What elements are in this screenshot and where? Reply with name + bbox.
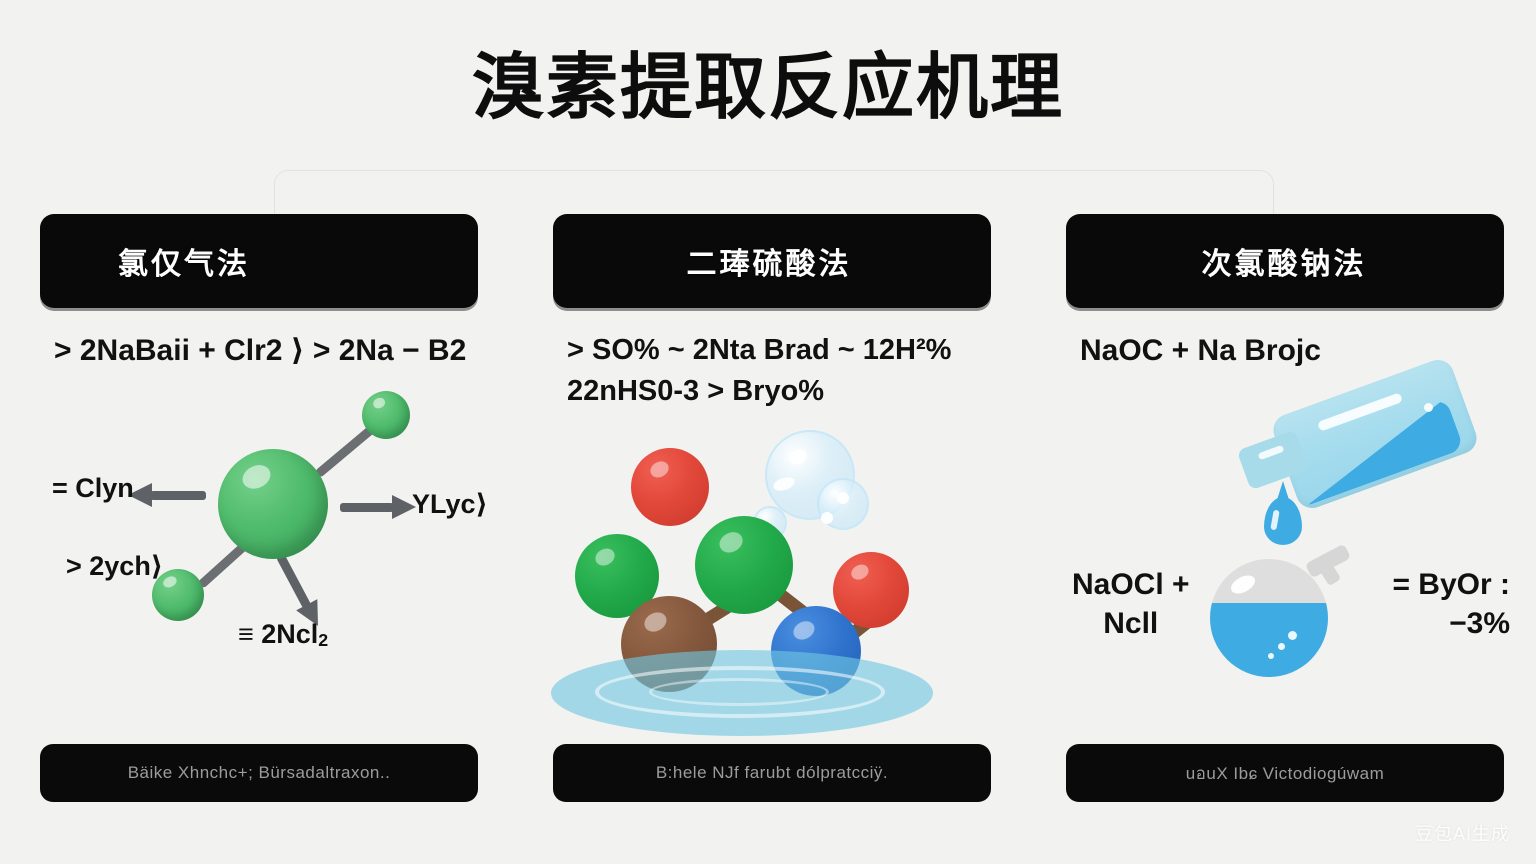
diagram-chlorine: = Clyn > 2ych⟩ YLyc⟩ ≡ 2Ncl2	[40, 373, 478, 713]
bottle-icon	[1236, 381, 1486, 561]
diagram-label-left: NaOCl + Ncll	[1072, 565, 1190, 644]
flask-bubble	[1288, 631, 1297, 640]
formula-line: 22nHS0-3 > Bryo%	[567, 371, 977, 412]
arrow-right-icon	[340, 503, 394, 512]
formula-line: > SO% ~ 2Nta Brad ~ 12H²%	[567, 330, 977, 371]
card-title-chlorine: 氯仅气法	[118, 239, 250, 283]
diagram-label-bottom: ≡ 2Ncl2	[238, 619, 328, 651]
atom-sphere-large	[218, 449, 328, 559]
diagram-molecule	[553, 412, 991, 752]
arrow-left-icon	[150, 491, 206, 500]
card-caption-chlorine: Bäike Xhnchc+; Bürsadaltraxon..	[40, 744, 478, 802]
formula-block-sulfur-dioxide: > SO% ~ 2Nta Brad ~ 12H²% 22nHS0-3 > Bry…	[553, 330, 991, 412]
flask-bubble	[1278, 643, 1285, 650]
poster-stage: 溴素提取反应机理 氯仅气法 > 2NaBaii + Clr2 ⟩ > 2Na −…	[0, 0, 1536, 864]
caption-text: Bäike Xhnchc+; Bürsadaltraxon..	[128, 763, 391, 783]
flask-liquid	[1210, 603, 1328, 676]
flask-bubble	[1268, 653, 1274, 659]
card-title-sodium-hypochlorite: 次氯酸钠法	[1202, 239, 1367, 283]
card-header-sodium-hypochlorite: 次氯酸钠法	[1066, 214, 1504, 308]
caption-text: B:hele NJf farubt dólpratcciÿ.	[656, 763, 888, 783]
bond-line	[315, 425, 376, 478]
diagram-label-left: = Clyn	[52, 473, 134, 504]
bottle-highlight	[1424, 403, 1433, 412]
formula-block-chlorine: > 2NaBaii + Clr2 ⟩ > 2Na − B2	[40, 330, 478, 373]
label-line-1: NaOCl +	[1072, 565, 1190, 605]
card-header-sulfur-dioxide: 二琫硫酸法	[553, 214, 991, 308]
formula-line: > 2NaBaii + Clr2 ⟩ > 2Na − B2	[54, 330, 464, 373]
card-title-sulfur-dioxide: 二琫硫酸法	[687, 239, 852, 283]
arrow-down-icon	[276, 553, 311, 608]
diagram-label-right: YLyc⟩	[412, 489, 488, 520]
label-line-1: = ByOr :	[1392, 565, 1510, 605]
label-line-2: Ncll	[1072, 604, 1190, 644]
atom-sphere-small	[362, 391, 410, 439]
diagram-bottle-flask: NaOCl + Ncll = ByOr : −3%	[1066, 373, 1504, 713]
method-card-chlorine[interactable]: 氯仅气法 > 2NaBaii + Clr2 ⟩ > 2Na − B2 = Cly…	[40, 214, 478, 802]
diagram-label-lower-left: > 2ych⟩	[66, 551, 163, 582]
card-caption-sulfur-dioxide: B:hele NJf farubt dólpratcciÿ.	[553, 744, 991, 802]
caption-text: uอuX Ibɕ Victodiogúwam	[1186, 760, 1385, 787]
card-caption-sodium-hypochlorite: uอuX Ibɕ Victodiogúwam	[1066, 744, 1504, 802]
atom-red	[631, 448, 709, 526]
droplet-icon	[1264, 497, 1302, 545]
page-title: 溴素提取反应机理	[0, 52, 1536, 124]
flask-icon	[1210, 559, 1328, 677]
card-header-chlorine: 氯仅气法	[40, 214, 478, 308]
method-card-sulfur-dioxide[interactable]: 二琫硫酸法 > SO% ~ 2Nta Brad ~ 12H²% 22nHS0-3…	[553, 214, 991, 802]
flask-highlight	[1228, 571, 1258, 596]
atom-green	[695, 516, 793, 614]
flask-body	[1210, 559, 1328, 677]
label-line-2: −3%	[1392, 604, 1510, 644]
ai-watermark: 豆包AI生成	[1415, 820, 1510, 846]
diagram-label-right: = ByOr : −3%	[1392, 565, 1510, 644]
method-card-sodium-hypochlorite[interactable]: 次氯酸钠法 NaOC + Na Brojc	[1066, 214, 1504, 802]
